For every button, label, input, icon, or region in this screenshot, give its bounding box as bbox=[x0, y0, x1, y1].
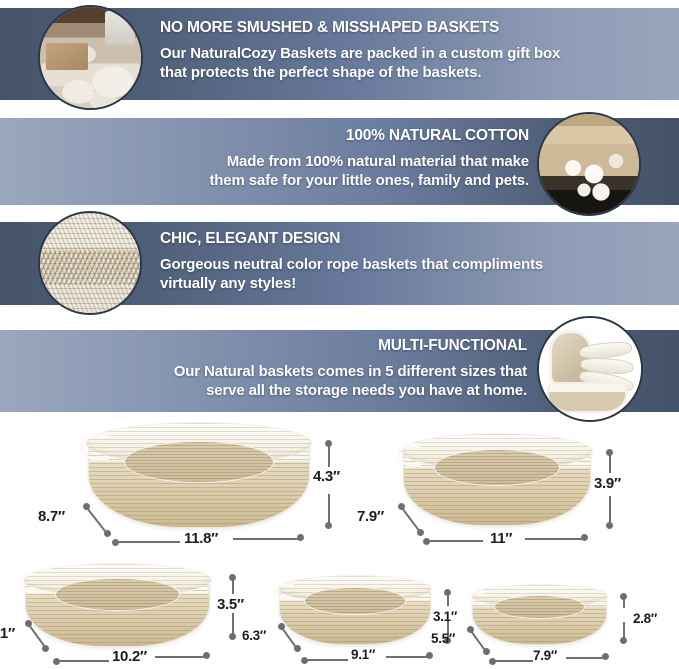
height-label: 2.8″ bbox=[633, 611, 657, 626]
banner-body: Our NaturalCozy Baskets are packed in a … bbox=[160, 44, 560, 82]
width-line bbox=[429, 540, 483, 542]
photo-image bbox=[539, 318, 641, 420]
width-label: 10.2″ bbox=[112, 648, 147, 665]
height-label: 3.5″ bbox=[217, 596, 244, 613]
width-dot-right bbox=[602, 653, 609, 660]
basket-handle bbox=[397, 444, 421, 466]
basket-cavity bbox=[124, 441, 274, 483]
height-line-upper bbox=[609, 454, 611, 473]
cotton-bolls-photo bbox=[537, 112, 641, 216]
banner-title: MULTI-FUNCTIONAL bbox=[174, 337, 527, 355]
height-label: 4.3″ bbox=[313, 468, 340, 485]
width-line-2 bbox=[233, 538, 298, 540]
height-line-upper bbox=[328, 445, 330, 467]
height-line-upper bbox=[232, 579, 234, 594]
gift-box-baskets-photo bbox=[38, 5, 143, 110]
height-dot-bottom bbox=[229, 633, 236, 640]
basket-cavity bbox=[304, 587, 406, 615]
banner-title: CHIC, ELEGANT DESIGN bbox=[160, 230, 543, 248]
basket-handle bbox=[19, 573, 43, 593]
basket-handle bbox=[274, 584, 294, 600]
depth-label: 5.5″ bbox=[431, 631, 455, 646]
basket-illustration bbox=[25, 569, 210, 647]
height-dot-bottom bbox=[620, 637, 627, 644]
height-label: 3.9″ bbox=[594, 475, 621, 492]
depth-label: 7.9″ bbox=[357, 508, 384, 525]
depth-line bbox=[401, 507, 422, 534]
height-dot-bottom bbox=[606, 522, 613, 529]
photo-image bbox=[40, 213, 140, 313]
width-label: 11″ bbox=[490, 530, 512, 547]
depth-label: 6.3″ bbox=[242, 628, 266, 643]
width-label: 11.8″ bbox=[184, 530, 218, 547]
basket-size-1: 11.8″ 8.7″ 4.3″ bbox=[0, 418, 370, 553]
width-line bbox=[495, 660, 533, 662]
width-dot-right bbox=[426, 652, 433, 659]
basket-illustration bbox=[88, 430, 310, 528]
banner-title: 100% NATURAL COTTON bbox=[209, 127, 529, 145]
banner-body: Gorgeous neutral color rope baskets that… bbox=[160, 255, 543, 293]
base-basket-shape bbox=[547, 382, 627, 413]
height-line-lower bbox=[623, 622, 625, 638]
depth-label: 8.7″ bbox=[38, 508, 65, 525]
banner-body: Made from 100% natural material that mak… bbox=[209, 152, 529, 190]
width-label: 9.1″ bbox=[351, 647, 375, 662]
width-line-2 bbox=[525, 538, 582, 540]
banner-text-block: 100% NATURAL COTTON Made from 100% natur… bbox=[209, 127, 529, 190]
width-line bbox=[118, 541, 180, 543]
banner-text-block: CHIC, ELEGANT DESIGN Gorgeous neutral co… bbox=[160, 230, 543, 293]
banner-text-block: MULTI-FUNCTIONAL Our Natural baskets com… bbox=[174, 337, 527, 400]
width-line-2 bbox=[155, 656, 204, 658]
depth-line bbox=[86, 507, 109, 535]
basket-illustration bbox=[279, 580, 431, 645]
depth-label: 7.1″ bbox=[0, 625, 15, 642]
width-line-2 bbox=[566, 657, 603, 659]
width-dot-right bbox=[581, 534, 588, 541]
height-line-lower bbox=[328, 494, 330, 524]
width-label: 7.9″ bbox=[533, 648, 557, 663]
basket-illustration bbox=[403, 440, 591, 526]
banner-body: Our Natural baskets comes in 5 different… bbox=[174, 362, 527, 400]
height-line-lower bbox=[609, 496, 611, 523]
height-line-lower bbox=[232, 613, 234, 634]
basket-cavity bbox=[494, 595, 584, 619]
width-dot-right bbox=[297, 534, 304, 541]
basket-cavity bbox=[55, 578, 179, 611]
width-line bbox=[307, 659, 348, 661]
banner-text-block: NO MORE SMUSHED & MISSHAPED BASKETS Our … bbox=[160, 19, 560, 82]
basket-size-4: 9.1″ 6.3″ 3.1″ bbox=[258, 565, 458, 669]
banner-title: NO MORE SMUSHED & MISSHAPED BASKETS bbox=[160, 19, 560, 37]
photo-image bbox=[40, 7, 141, 108]
basket-dimensions-diagram: 11.8″ 8.7″ 4.3″ 11″ 7.9″ 3.9″ bbox=[0, 418, 679, 669]
rope-weave-texture-photo bbox=[38, 211, 142, 315]
basket-handle bbox=[80, 435, 109, 460]
height-line-upper bbox=[623, 598, 625, 608]
basket-cavity bbox=[434, 449, 560, 486]
width-line bbox=[59, 660, 109, 662]
basket-illustration bbox=[472, 588, 607, 645]
basket-size-2: 11″ 7.9″ 3.9″ bbox=[370, 424, 679, 554]
width-dot-right bbox=[203, 652, 210, 659]
basket-size-5: 7.9″ 5.5″ 2.8″ bbox=[445, 575, 679, 669]
basket-handle bbox=[468, 591, 485, 605]
width-line-2 bbox=[386, 656, 427, 658]
nested-baskets-stack-photo bbox=[537, 316, 643, 422]
photo-image bbox=[539, 114, 639, 214]
basket-size-3: 10.2″ 7.1″ 3.5″ bbox=[0, 555, 258, 669]
